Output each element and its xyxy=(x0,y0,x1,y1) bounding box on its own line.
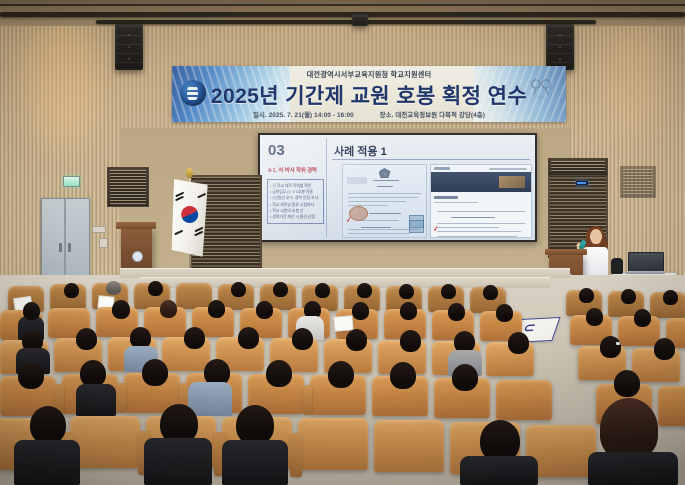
seat-armrest xyxy=(117,383,126,413)
wall-air-conditioning-vent-right xyxy=(548,158,608,176)
slide-title-divider xyxy=(332,159,530,160)
south-korea-flag xyxy=(170,179,208,257)
attendee-shoulders xyxy=(188,382,232,416)
attendee-head xyxy=(238,327,259,349)
certificate-red-seal xyxy=(349,206,368,221)
certificate-document: ✓ xyxy=(342,164,427,238)
seat-armrest xyxy=(303,385,312,415)
attendee-head xyxy=(634,309,651,327)
certificate-emblem-icon xyxy=(379,168,391,178)
attendee-head xyxy=(508,332,529,354)
event-banner: LOGO 대전광역시서부교육지원청 학교지원센터 2025년 기간제 교원 호봉… xyxy=(172,66,566,122)
stage-lectern-top xyxy=(116,222,156,229)
ceiling-line-array-speaker-right xyxy=(546,24,574,70)
attendee-head xyxy=(273,282,288,297)
attendee-head xyxy=(654,338,675,360)
auditorium-photograph: LOGO 대전광역시서부교육지원청 학교지원센터 2025년 기간제 교원 호봉… xyxy=(0,0,685,485)
attendee-head xyxy=(400,330,421,352)
wall-spotlight-right xyxy=(598,16,668,136)
attendee-head xyxy=(390,362,416,389)
attendee-shoulders xyxy=(460,456,538,485)
banner-organization: 대전광역시서부교육지원청 학교지원센터 xyxy=(172,70,566,80)
attendee-head xyxy=(106,281,121,295)
attendee-head xyxy=(483,285,498,300)
attendee-head xyxy=(579,288,594,303)
attendee-shoulders xyxy=(76,384,116,416)
banner-title: 2025년 기간제 교원 호봉 획정 연수 xyxy=(172,80,566,110)
flag-pole-finial xyxy=(186,168,193,178)
attendee-head xyxy=(357,283,372,298)
attendee-shoulders xyxy=(222,440,288,485)
slide-section-number: 03 xyxy=(268,143,326,158)
wall-air-conditioning-vent-left xyxy=(107,167,149,207)
seat-armrest xyxy=(290,433,302,477)
wall-plate-left xyxy=(92,226,106,233)
attendee-head xyxy=(231,282,246,297)
attendee-shoulders xyxy=(14,440,80,485)
attendee-head xyxy=(148,281,163,296)
attendee-head xyxy=(663,290,678,305)
slide-content: 03 4-1. 석·박사 학위 경력 각 학교 대학 학위를 확인 급여업무 (… xyxy=(260,135,535,240)
presentation-laptop-base xyxy=(625,271,665,274)
attendee-head xyxy=(600,336,621,358)
attendee-head xyxy=(112,300,130,319)
attendee-head xyxy=(448,303,465,321)
auditorium-seat xyxy=(658,386,685,426)
attendee-head xyxy=(352,302,369,320)
attendee-head xyxy=(496,304,513,322)
attendee-head xyxy=(23,302,40,320)
banner-venue: 장소. 대전교육정보원 다목적 강당(4층) xyxy=(380,112,485,119)
slide-title: 사례 적용 1 xyxy=(334,143,387,159)
attendee-head xyxy=(160,300,177,318)
auditorium-seat xyxy=(496,380,552,420)
wall-spotlight-left xyxy=(22,14,100,144)
auditorium-seat xyxy=(176,283,212,309)
certificate-stamp-lower xyxy=(409,220,424,233)
light-switch-left[interactable] xyxy=(99,238,108,248)
attendee-head-foreground xyxy=(600,398,658,460)
attendee-head xyxy=(266,360,292,387)
list-item: 학교 재직일 종료 시점까지 xyxy=(270,202,321,208)
emergency-exit-sign-icon xyxy=(63,176,80,187)
auditorium-seat xyxy=(374,420,444,472)
attendee-head xyxy=(18,362,44,389)
red-check-mark-icon: ✓ xyxy=(432,224,439,233)
attendee-head xyxy=(346,329,367,351)
av-equipment-box xyxy=(611,258,623,274)
attendee-head xyxy=(400,302,417,320)
banner-datetime: 일시. 2025. 7. 21(월) 14:00 - 16:00 xyxy=(253,112,354,119)
ceiling-speaker-center xyxy=(352,14,368,26)
attendee-head xyxy=(256,301,273,319)
attendee-head xyxy=(80,360,106,387)
ceiling-line-array-speaker-left xyxy=(115,24,143,70)
slide-subheading: 4-1. 석·박사 학위 경력 xyxy=(268,166,326,174)
attendee-head xyxy=(315,283,330,298)
attendee-head xyxy=(236,405,274,445)
auditorium-seat xyxy=(70,416,140,468)
attendee-shoulders-foreground xyxy=(588,452,678,485)
slide-left-panel: 03 4-1. 석·박사 학위 경력 각 학교 대학 학위를 확인 급여업무 (… xyxy=(264,138,327,237)
ceiling-truss-lower xyxy=(96,20,596,24)
attendee-head xyxy=(452,364,478,391)
auditorium-seat xyxy=(298,418,368,470)
ac-led-display xyxy=(576,181,588,185)
hair-clip xyxy=(616,342,620,345)
ceiling-truss-upper xyxy=(0,4,685,6)
side-entrance-door[interactable] xyxy=(41,198,90,283)
slide-bullet-box: 각 학교 대학 학위를 확인 급여업무 (1~2 1호봉 적용 1년원산 호수,… xyxy=(267,179,324,224)
attendee-head xyxy=(30,406,66,444)
attendee-head xyxy=(64,283,79,298)
website-header-bar xyxy=(431,172,531,192)
attendee-head xyxy=(142,359,168,386)
attendee-head xyxy=(441,284,456,299)
attendee-head xyxy=(399,284,414,299)
wall-air-conditioning-vent-far-right xyxy=(620,166,656,198)
list-item: 경력기간 계산 시 환산 산정 xyxy=(270,214,321,220)
attendee-head xyxy=(621,289,636,304)
attendee-head xyxy=(586,308,603,326)
projection-screen: 03 4-1. 석·박사 학위 경력 각 학교 대학 학위를 확인 급여업무 (… xyxy=(258,133,537,242)
list-item: 1년원산 호수, 경력 인정 조사 xyxy=(270,195,321,201)
website-screenshot: ✓ xyxy=(430,164,532,238)
attendee-head xyxy=(328,361,354,388)
attendee-shoulders xyxy=(144,438,212,485)
attendee-head xyxy=(76,328,97,350)
attendee-head xyxy=(614,370,640,397)
attendee-head xyxy=(184,327,205,349)
lectern-emblem-icon xyxy=(132,251,143,262)
banner-subtitle: 일시. 2025. 7. 21(월) 14:00 - 16:00 장소. 대전교… xyxy=(172,110,566,119)
attendee-head xyxy=(292,328,313,350)
ceiling-truss-main xyxy=(0,12,685,17)
taeguk-symbol-icon xyxy=(178,203,201,226)
attendee-head xyxy=(208,300,225,318)
